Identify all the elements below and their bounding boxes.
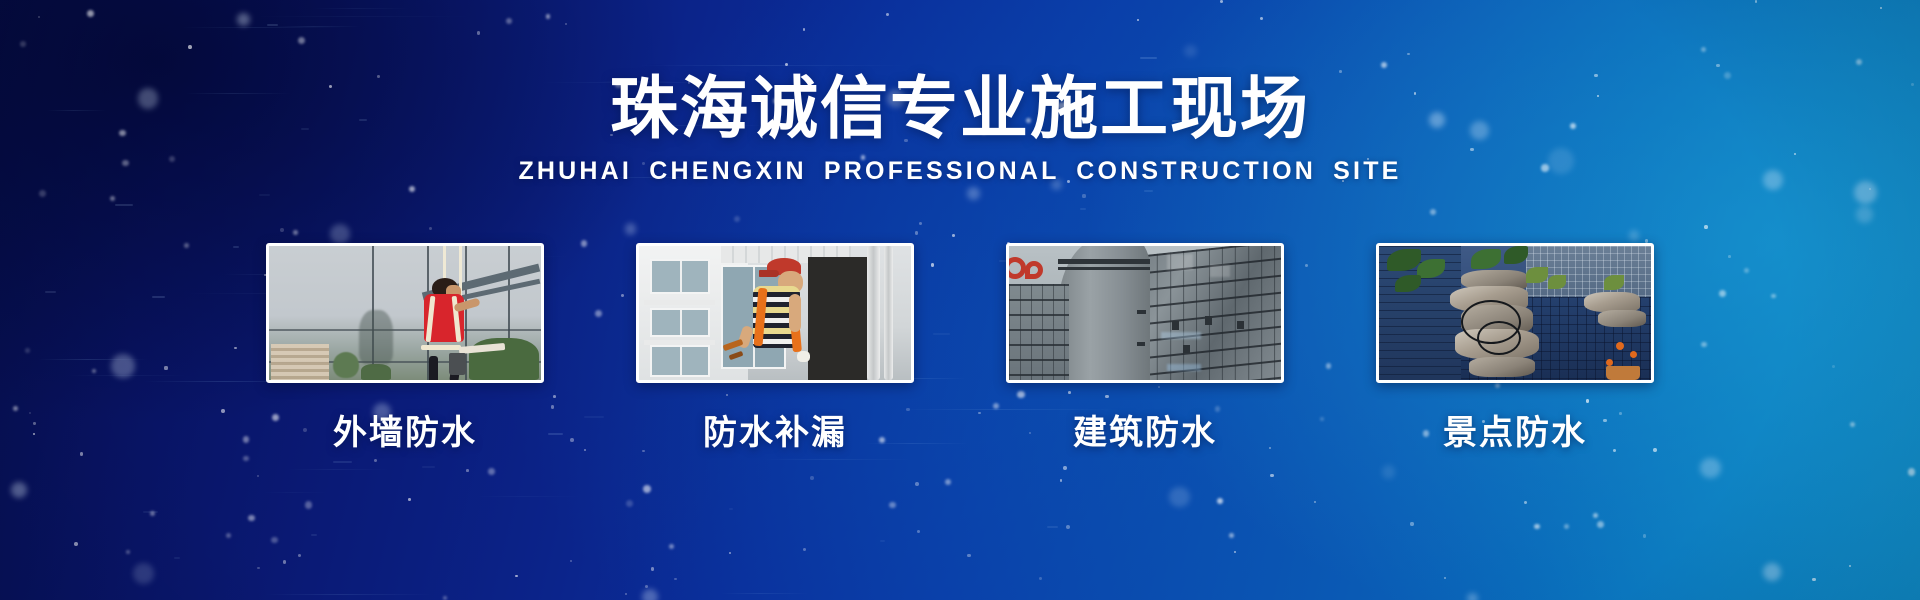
service-label-leak-repair: 防水补漏	[636, 405, 914, 454]
banner-heading: 珠海诚信专业施工现场 ZHUHAI CHENGXIN PROFESSIONAL …	[0, 74, 1920, 186]
promo-banner: 珠海诚信专业施工现场 ZHUHAI CHENGXIN PROFESSIONAL …	[0, 0, 1920, 600]
service-label-exterior-wall: 外墙防水	[266, 405, 544, 454]
service-card-exterior-wall[interactable]: 外墙防水	[266, 243, 544, 454]
photo-curved-glass-office-tower	[1009, 246, 1281, 380]
photo-worker-sealing-window-exterior	[639, 246, 911, 380]
photo-rockery-garden-water-feature	[1379, 246, 1651, 380]
service-label-building: 建筑防水	[1006, 405, 1284, 454]
service-card-scenic-spot[interactable]: 景点防水	[1376, 243, 1654, 454]
banner-subtitle-english: ZHUHAI CHENGXIN PROFESSIONAL CONSTRUCTIO…	[0, 157, 1920, 186]
service-card-leak-repair[interactable]: 防水补漏	[636, 243, 914, 454]
service-thumbnail-building[interactable]	[1006, 243, 1284, 383]
banner-title-chinese: 珠海诚信专业施工现场	[0, 74, 1920, 145]
service-thumbnail-exterior-wall[interactable]	[266, 243, 544, 383]
service-thumbnail-leak-repair[interactable]	[636, 243, 914, 383]
service-card-list: 外墙防水	[0, 243, 1920, 454]
service-card-building[interactable]: 建筑防水	[1006, 243, 1284, 454]
service-thumbnail-scenic-spot[interactable]	[1376, 243, 1654, 383]
service-label-scenic-spot: 景点防水	[1376, 405, 1654, 454]
photo-worker-rappelling-glass-curtain-wall	[269, 246, 541, 380]
